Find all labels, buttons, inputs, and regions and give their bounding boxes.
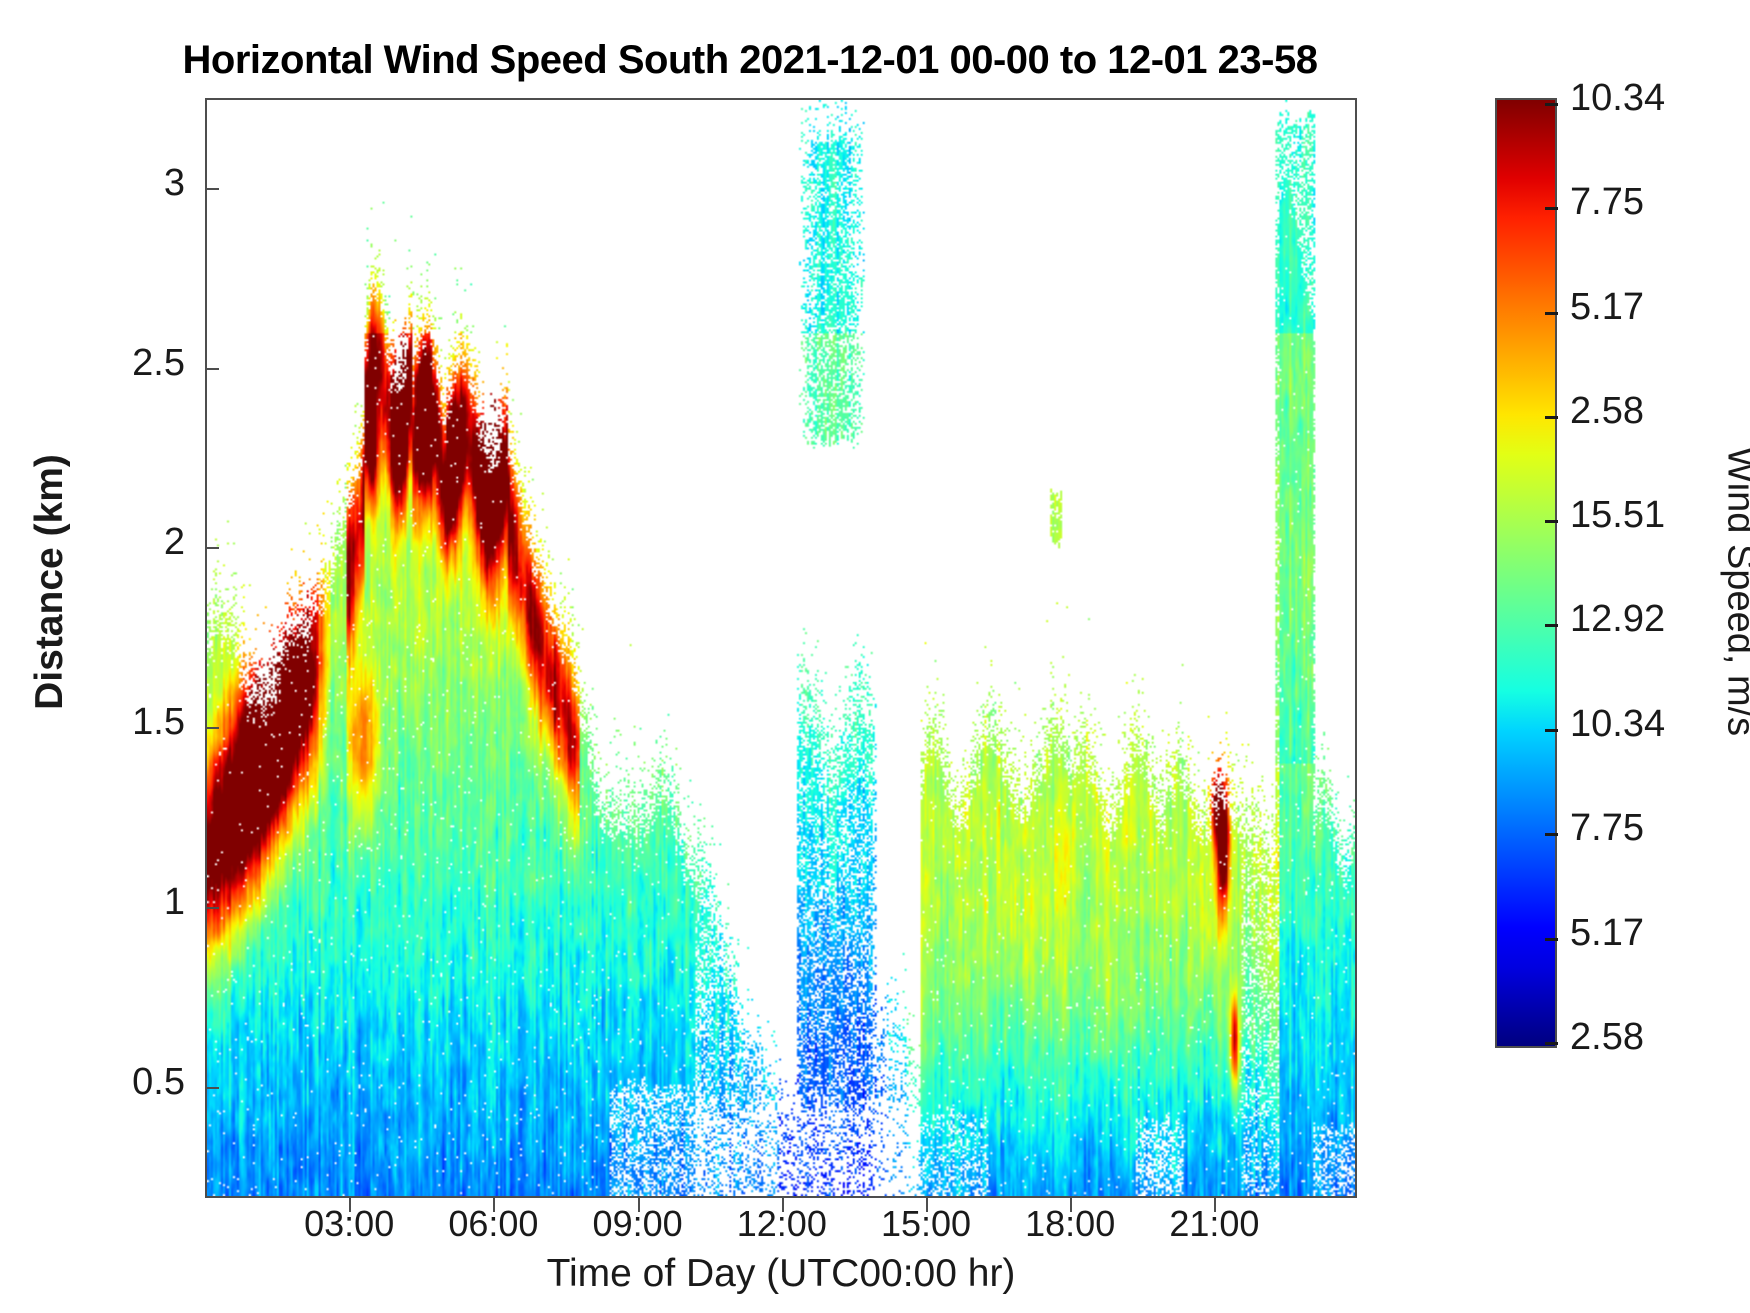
colorbar-tick-mark	[1545, 938, 1558, 941]
y-axis-tick-mark	[205, 547, 219, 549]
colorbar-tick-label: 7.75	[1570, 807, 1644, 850]
y-axis-tick-mark	[205, 727, 219, 729]
page-title: Horizontal Wind Speed South 2021-12-01 0…	[0, 38, 1500, 83]
colorbar-tick-label: 7.75	[1570, 181, 1644, 224]
colorbar-tick-mark	[1545, 416, 1558, 419]
colorbar-tick-label: 2.58	[1570, 1016, 1644, 1059]
colorbar-tick-label: 10.34	[1570, 703, 1665, 746]
y-axis-tick-mark	[205, 188, 219, 190]
y-axis-tick-label: 3	[45, 162, 185, 205]
heatmap-plot-area	[205, 98, 1357, 1198]
y-axis-tick-label: 2.5	[45, 342, 185, 385]
colorbar-tick-label: 2.58	[1570, 390, 1644, 433]
y-axis-tick-label: 0.5	[45, 1061, 185, 1104]
colorbar-tick-mark	[1545, 624, 1558, 627]
y-axis-tick-label: 1.5	[45, 701, 185, 744]
y-axis-tick-mark	[205, 907, 219, 909]
colorbar-tick-mark	[1545, 520, 1558, 523]
colorbar-tick-label: 5.17	[1570, 286, 1644, 329]
heatmap-canvas	[207, 100, 1355, 1196]
y-axis-tick-mark	[205, 1087, 219, 1089]
colorbar-tick-mark	[1545, 207, 1558, 210]
figure-root: Horizontal Wind Speed South 2021-12-01 0…	[0, 0, 1750, 1313]
y-axis-tick-label: 2	[45, 521, 185, 564]
colorbar-tick-label: 5.17	[1570, 912, 1644, 955]
colorbar-axis-label: Wind Speed, m/s	[1719, 382, 1750, 802]
colorbar-tick-mark	[1545, 729, 1558, 732]
x-axis-tick-label: 21:00	[1114, 1203, 1314, 1245]
y-axis-label: Distance (km)	[28, 232, 72, 932]
y-axis-tick-label: 1	[45, 881, 185, 924]
colorbar-tick-mark	[1545, 833, 1558, 836]
colorbar-tick-label: 12.92	[1570, 598, 1665, 641]
colorbar-tick-mark	[1545, 1042, 1558, 1045]
colorbar-tick-label: 15.51	[1570, 494, 1665, 537]
colorbar	[1495, 98, 1557, 1048]
y-axis-tick-mark	[205, 368, 219, 370]
colorbar-tick-label: 10.34	[1570, 77, 1665, 120]
colorbar-tick-mark	[1545, 103, 1558, 106]
x-axis-label: Time of Day (UTC00:00 hr)	[205, 1252, 1357, 1296]
colorbar-tick-mark	[1545, 312, 1558, 315]
colorbar-gradient	[1497, 100, 1555, 1046]
